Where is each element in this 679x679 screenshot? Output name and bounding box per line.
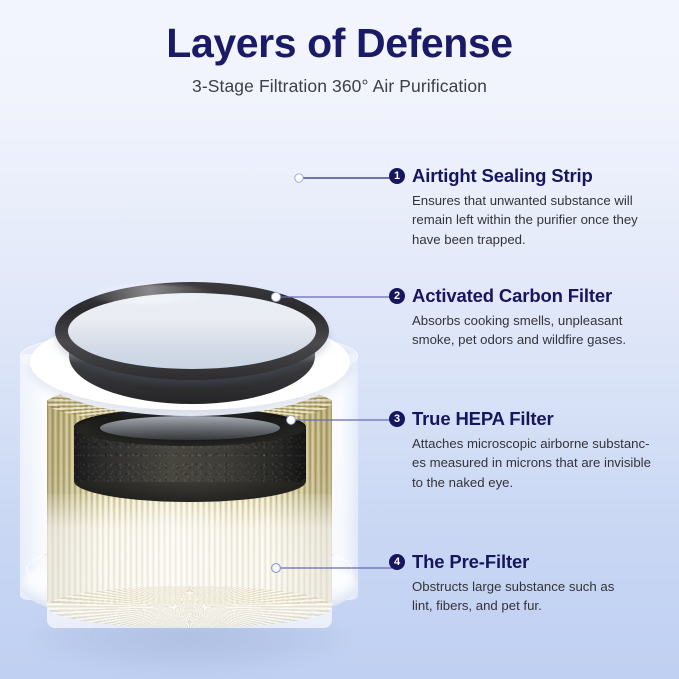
sealing-strip-part xyxy=(55,282,329,404)
callout-title-4: The Pre-Filter xyxy=(412,551,529,573)
callout-item-true-hepa-filter: 3 True HEPA Filter Attaches microscopic … xyxy=(389,408,679,492)
page-subtitle: 3-Stage Filtration 360° Air Purification xyxy=(0,67,679,97)
callout-title-3: True HEPA Filter xyxy=(412,408,554,430)
header: Layers of Defense 3-Stage Filtration 360… xyxy=(0,0,679,97)
callout-title-1: Airtight Sealing Strip xyxy=(412,165,593,187)
page-title: Layers of Defense xyxy=(0,0,679,67)
callout-item-the-pre-filter: 4 The Pre-Filter Obstructs large substan… xyxy=(389,551,679,616)
hepa-bottom-edge xyxy=(47,586,332,628)
callout-header-2: 2 Activated Carbon Filter xyxy=(389,285,679,307)
callout-item-activated-carbon-filter: 2 Activated Carbon Filter Absorbs cookin… xyxy=(389,285,679,350)
callout-desc-line: Absorbs cooking smells, unpleasant xyxy=(412,311,662,330)
callout-desc-line: Attaches microscopic airborne substanc- xyxy=(412,434,662,453)
callout-desc-line: lint, fibers, and pet fur. xyxy=(412,596,662,615)
callout-header-1: 1 Airtight Sealing Strip xyxy=(389,165,679,187)
callout-badge-1: 1 xyxy=(389,168,405,184)
callout-title-2: Activated Carbon Filter xyxy=(412,285,612,307)
callout-desc-line: smoke, pet odors and wildfire gases. xyxy=(412,330,662,349)
callout-desc-line: Obstructs large substance such as xyxy=(412,577,662,596)
callout-item-airtight-sealing-strip: 1 Airtight Sealing Strip Ensures that un… xyxy=(389,165,679,249)
callout-description-4: Obstructs large substance such as lint, … xyxy=(412,577,662,616)
callout-desc-line: to the naked eye. xyxy=(412,473,662,492)
callout-description-3: Attaches microscopic airborne substanc- … xyxy=(412,434,662,492)
callout-description-2: Absorbs cooking smells, unpleasant smoke… xyxy=(412,311,662,350)
infographic-canvas: Layers of Defense 3-Stage Filtration 360… xyxy=(0,0,679,679)
callout-desc-line: es measured in microns that are invisibl… xyxy=(412,453,662,472)
callout-badge-2: 2 xyxy=(389,288,405,304)
callout-description-1: Ensures that unwanted substance will rem… xyxy=(412,191,662,249)
sealing-strip-inner-opening xyxy=(68,293,316,369)
callout-desc-line: remain left within the purifier once the… xyxy=(412,210,662,229)
callout-desc-line: Ensures that unwanted substance will xyxy=(412,191,662,210)
callout-badge-3: 3 xyxy=(389,411,405,427)
callout-header-3: 3 True HEPA Filter xyxy=(389,408,679,430)
callout-header-4: 4 The Pre-Filter xyxy=(389,551,679,573)
callout-desc-line: have been trapped. xyxy=(412,230,662,249)
callout-list: 1 Airtight Sealing Strip Ensures that un… xyxy=(389,0,679,679)
callout-badge-4: 4 xyxy=(389,554,405,570)
product-illustration xyxy=(0,130,380,650)
sealing-strip-highlight xyxy=(85,284,215,304)
